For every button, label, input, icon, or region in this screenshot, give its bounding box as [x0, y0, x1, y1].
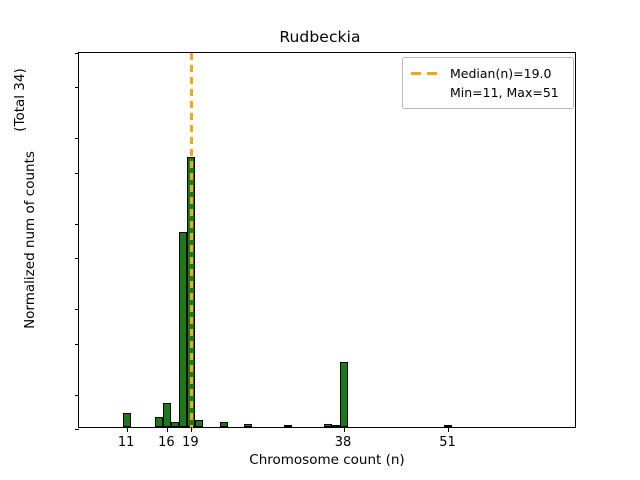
y-tick [75, 395, 80, 396]
x-axis-title: Chromosome count (n) [78, 452, 576, 468]
y-tick [75, 344, 80, 345]
x-tick-label: 11 [118, 435, 135, 450]
blank-swatch-icon [411, 91, 441, 94]
x-tick [127, 427, 128, 432]
chart-title: Rudbeckia [0, 28, 640, 46]
x-tick [448, 427, 449, 432]
x-tick [167, 427, 168, 432]
x-tick-label: 51 [439, 435, 456, 450]
y-tick [75, 173, 80, 174]
x-tick [344, 427, 345, 432]
x-tick-label: 38 [335, 435, 352, 450]
legend-label-minmax: Min=11, Max=51 [450, 85, 559, 100]
bar [163, 403, 171, 427]
legend-label-median: Median(n)=19.0 [450, 66, 551, 81]
bar [340, 362, 348, 427]
legend: Median(n)=19.0 Min=11, Max=51 [402, 57, 574, 109]
y-tick [75, 309, 80, 310]
y-tick [75, 53, 80, 54]
bar [220, 422, 228, 427]
bar-series [79, 53, 575, 427]
chart-figure: Rudbeckia 0257101215172022 1116193851 Ch… [0, 0, 640, 480]
bar [284, 425, 292, 427]
x-tick-label: 19 [182, 435, 199, 450]
y-axis-subtitle: (Total 34) [12, 0, 28, 220]
y-tick [75, 429, 80, 430]
y-tick [75, 258, 80, 259]
bar [195, 420, 203, 427]
bar [179, 232, 187, 427]
y-tick [75, 138, 80, 139]
legend-entry-median: Median(n)=19.0 [411, 64, 565, 83]
y-tick [75, 87, 80, 88]
bar [155, 417, 163, 427]
dashed-line-icon [411, 72, 441, 75]
bar [244, 424, 252, 427]
legend-entry-minmax: Min=11, Max=51 [411, 83, 565, 102]
bar [324, 424, 332, 427]
x-tick-label: 16 [158, 435, 175, 450]
bar [123, 413, 131, 427]
bar [332, 425, 340, 427]
bar [171, 422, 179, 427]
median-line [190, 53, 193, 429]
x-tick [191, 427, 192, 432]
y-tick [75, 224, 80, 225]
